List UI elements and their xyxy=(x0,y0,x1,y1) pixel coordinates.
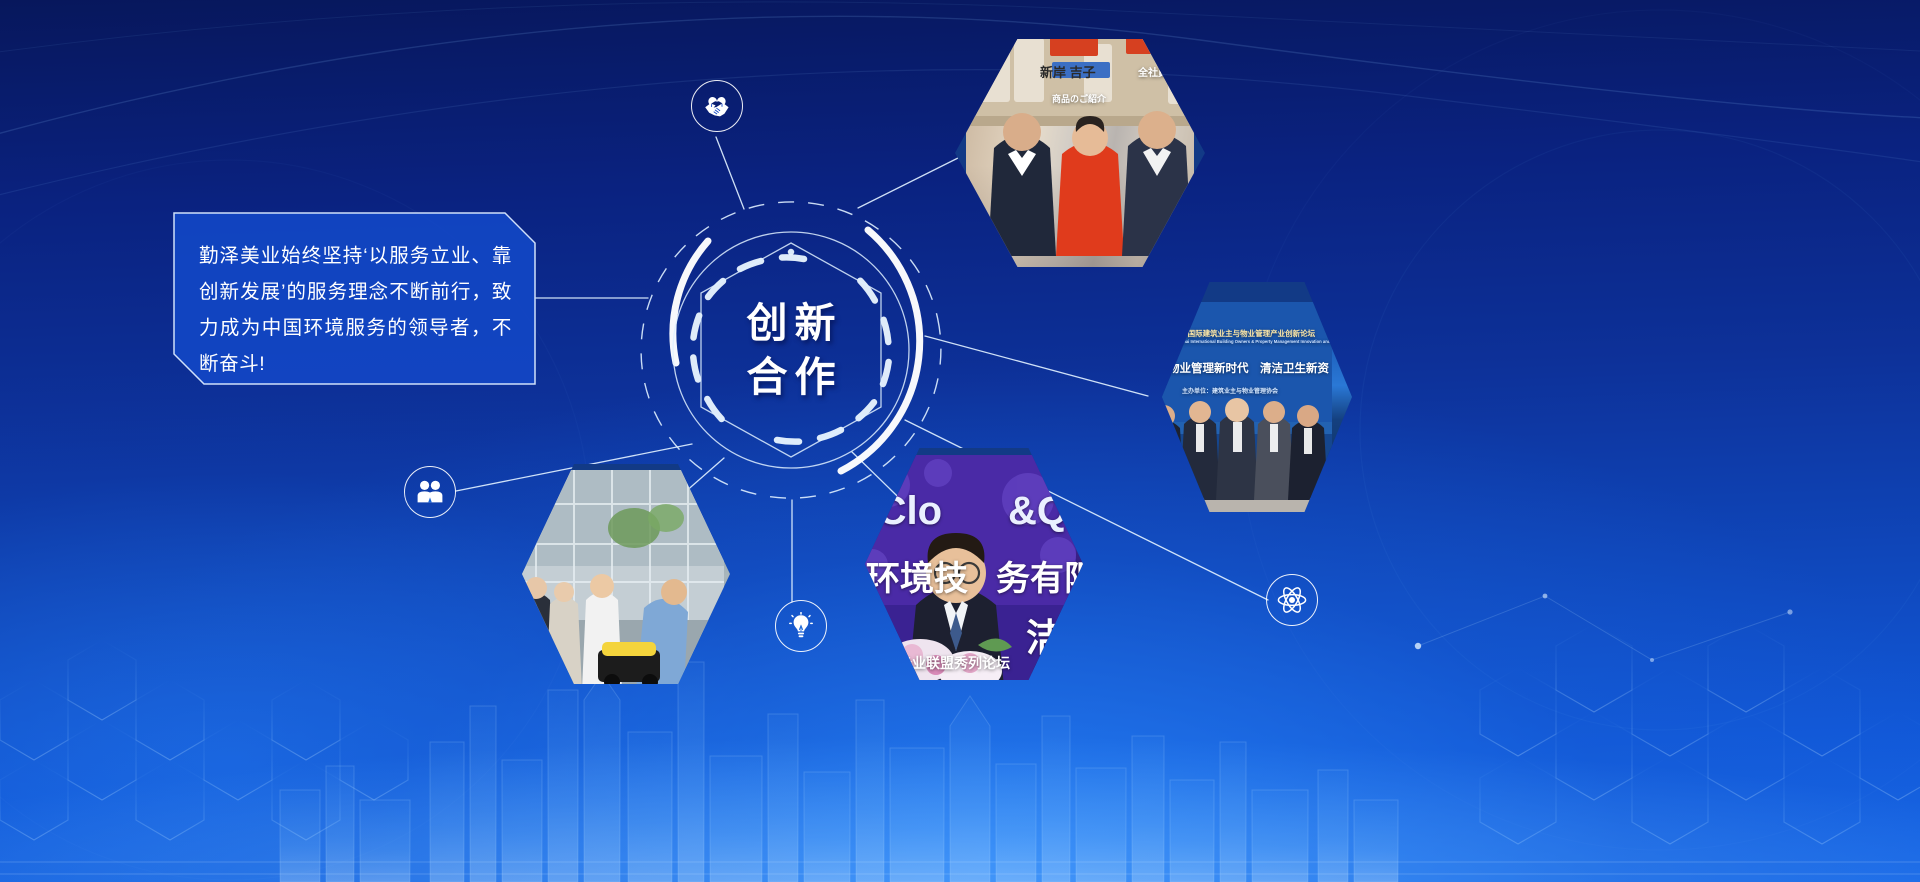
badge-atom[interactable] xyxy=(1266,574,1318,626)
company-statement-box: 勤泽美业始终坚持‘以服务立业、靠创新发展’的服务理念不断前行，致力成为中国环境服… xyxy=(173,212,536,385)
photo-caption: 商品のご紹介 xyxy=(1052,92,1106,105)
center-emblem[interactable]: 创新 合作 xyxy=(636,195,946,505)
people-icon xyxy=(416,479,444,505)
atom-icon xyxy=(1277,585,1307,615)
connection-network xyxy=(0,0,1920,882)
photo-caption: 新岸 吉子 xyxy=(1040,62,1096,81)
badge-people[interactable] xyxy=(404,466,456,518)
photo-caption: 环境技 xyxy=(866,551,968,600)
company-statement-text: 勤泽美业始终坚持‘以服务立业、靠创新发展’的服务理念不断前行，致力成为中国环境服… xyxy=(199,238,512,382)
badge-bulb[interactable] xyxy=(775,600,827,652)
photo-caption: 主办单位：建筑业主与物业管理协会 xyxy=(1182,386,1278,395)
photo-caption: 2019 Shanghai International Building Own… xyxy=(1162,339,1352,344)
photo-store-visit-image: 新岸 吉子 全社員 商品のご紹介 xyxy=(966,39,1194,267)
handshake-heart-icon xyxy=(702,92,732,120)
photo-award-stage-image: 2019上海国际建筑业主与物业管理产业创新论坛 2019 Shanghai In… xyxy=(1162,302,1352,492)
badge-handshake[interactable] xyxy=(691,80,743,132)
poster-canvas: 勤泽美业始终坚持‘以服务立业、靠创新发展’的服务理念不断前行，致力成为中国环境服… xyxy=(0,0,1920,882)
emblem-rings xyxy=(636,195,946,505)
lightbulb-icon xyxy=(789,612,813,640)
photo-caption: 物业管理新时代 清洁卫生新资 xyxy=(1168,360,1329,376)
